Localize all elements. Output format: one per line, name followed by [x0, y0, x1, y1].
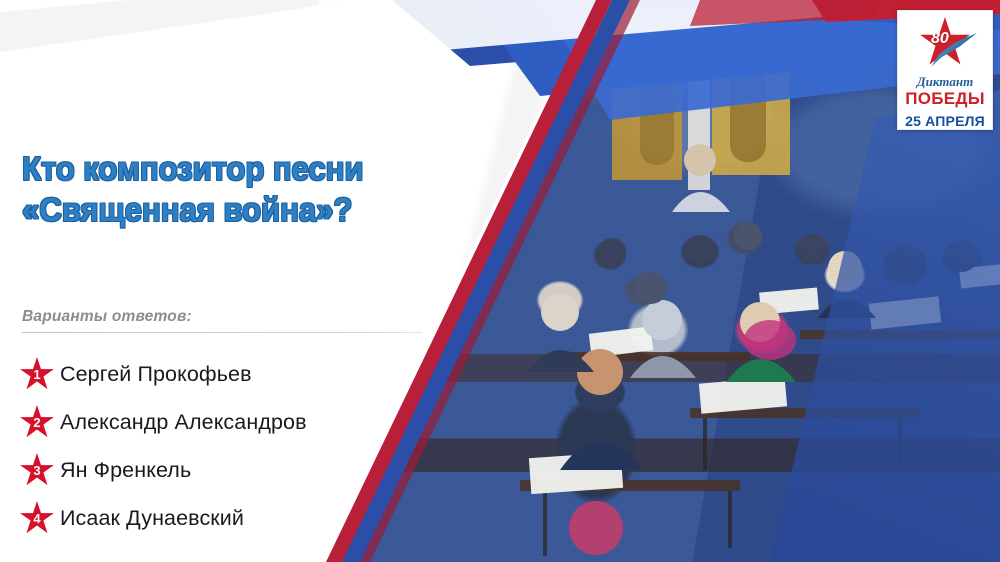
answer-text: Александр Александров [60, 410, 307, 435]
badge-date: 25 АПРЕЛЯ [898, 114, 992, 128]
answer-text: Исаак Дунаевский [60, 506, 244, 531]
question-text: Кто композитор песни «Священная война»? [22, 148, 497, 230]
answer-option-3[interactable]: 3 Ян Френкель [20, 446, 480, 494]
question-line-2: «Священная война»? [22, 189, 497, 230]
anniversary-unit: ЛЕТ [955, 28, 968, 34]
answers-divider [22, 332, 422, 333]
answer-text: Ян Френкель [60, 458, 191, 483]
star-bullet-icon: 1 [20, 357, 54, 391]
anniversary-number: 80 [931, 31, 949, 47]
answer-number: 4 [33, 512, 40, 525]
star-bullet-icon: 4 [20, 501, 54, 535]
question-line-1: Кто композитор песни [22, 148, 497, 189]
answers-label: Варианты ответов: [22, 308, 192, 326]
badge-title-bold: ПОБЕДЫ [898, 90, 992, 107]
diktant-pobedy-logo-badge: 80 ЛЕТ Диктант ПОБЕДЫ 25 АПРЕЛЯ [897, 10, 993, 130]
badge-emblem: 80 ЛЕТ [898, 11, 992, 77]
answer-option-2[interactable]: 2 Александр Александров [20, 398, 480, 446]
answer-text: Сергей Прокофьев [60, 362, 252, 387]
answer-number: 3 [33, 464, 40, 477]
star-bullet-icon: 3 [20, 453, 54, 487]
star-bullet-icon: 2 [20, 405, 54, 439]
answer-option-1[interactable]: 1 Сергей Прокофьев [20, 350, 480, 398]
slide-canvas: Кто композитор песни «Священная война»? … [0, 0, 1000, 562]
answer-number: 1 [33, 368, 40, 381]
answers-list: 1 Сергей Прокофьев 2 Александр Александр… [20, 350, 480, 542]
answer-option-4[interactable]: 4 Исаак Дунаевский [20, 494, 480, 542]
answer-number: 2 [33, 416, 40, 429]
